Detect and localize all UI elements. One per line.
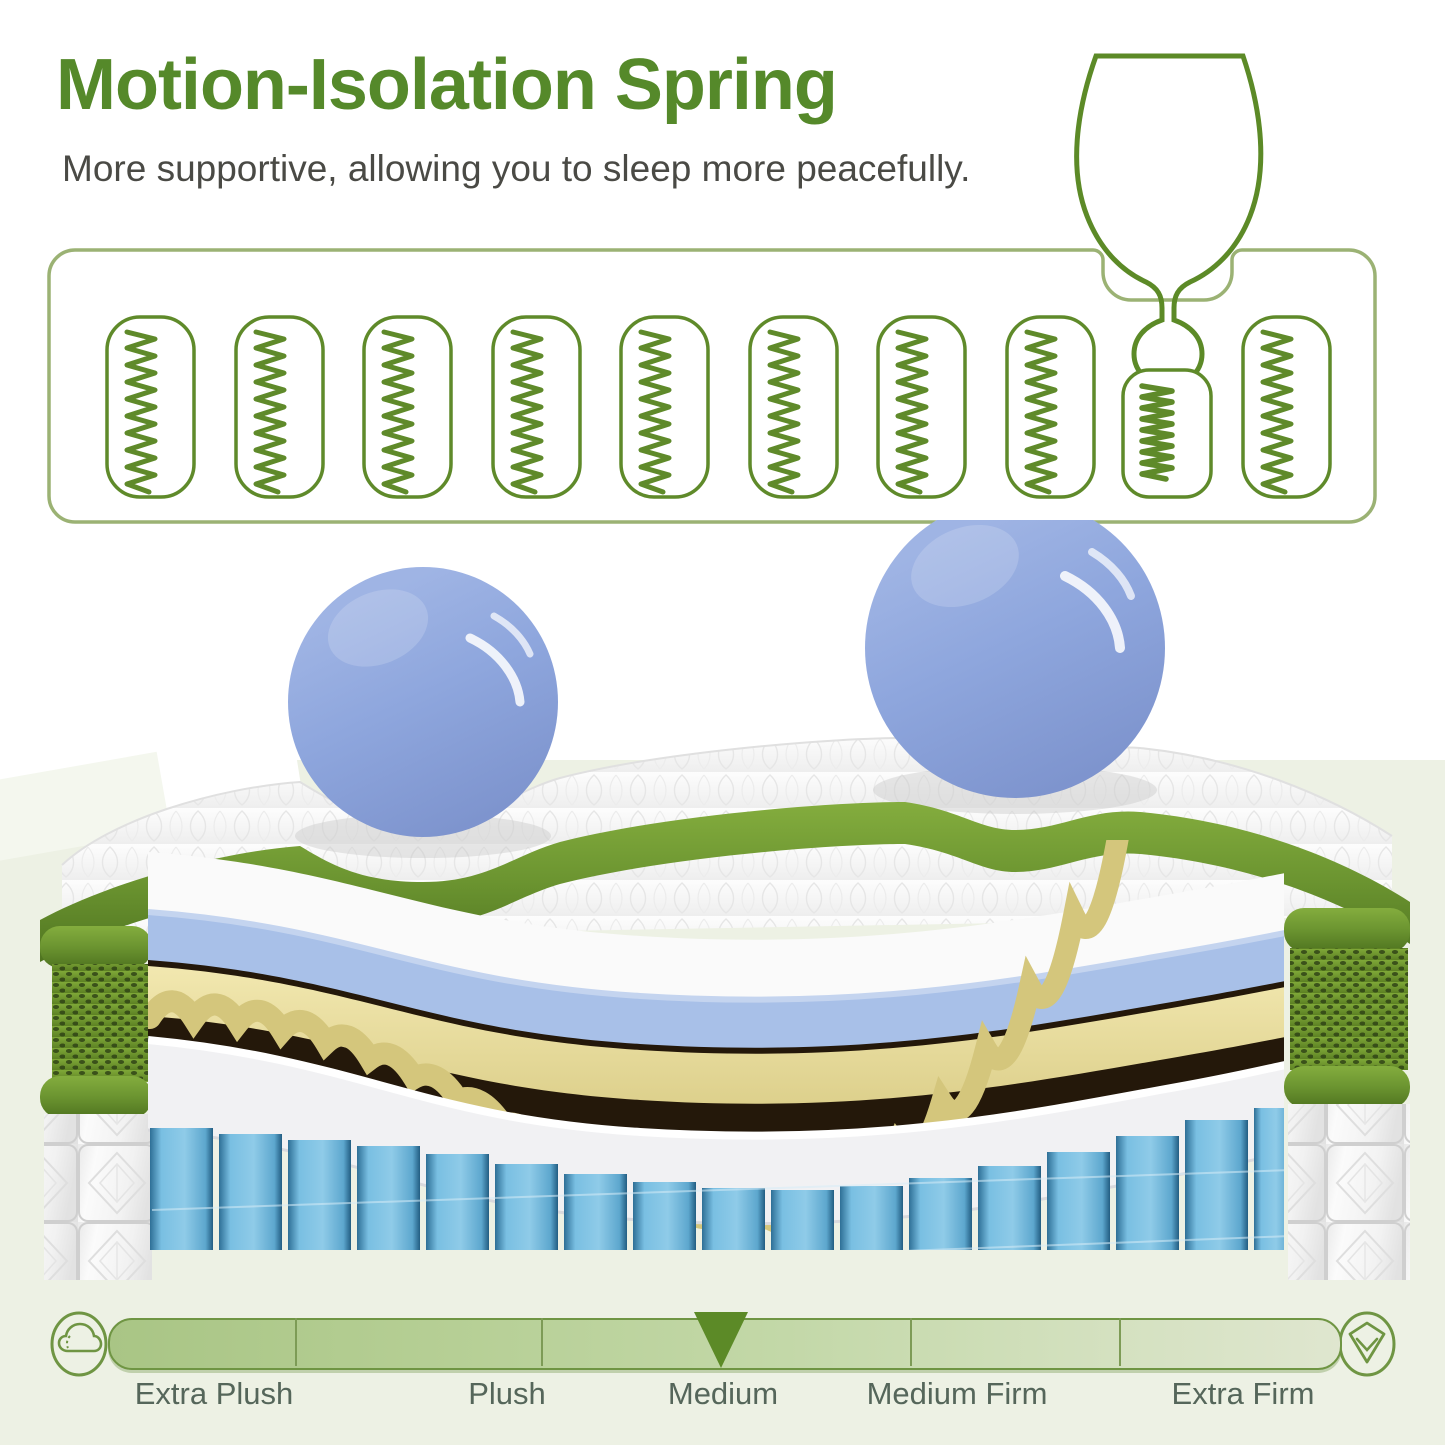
spring-pocket: [878, 317, 965, 497]
firmness-pointer: [694, 1312, 748, 1368]
scale-label-medium-firm: Medium Firm: [867, 1376, 1048, 1412]
spring-pocket-compressed: [1123, 370, 1211, 497]
diamond-icon: [1336, 1310, 1398, 1378]
scale-label-plush: Plush: [468, 1376, 546, 1412]
spring-pocket: [1007, 317, 1094, 497]
spring-pocket: [750, 317, 837, 497]
mattress-left-side: [40, 926, 152, 1280]
mattress-cross-section: [0, 520, 1445, 1280]
scale-label-extra-firm: Extra Firm: [1172, 1376, 1315, 1412]
scale-tick: [1119, 1318, 1121, 1366]
scale-label-medium: Medium: [668, 1376, 778, 1412]
spring-pocket: [107, 317, 194, 497]
scale-tick: [295, 1318, 297, 1366]
spring-pocket: [621, 317, 708, 497]
spring-pocket: [364, 317, 451, 497]
mattress-right-side: [1284, 908, 1410, 1280]
scale-label-extra-plush: Extra Plush: [135, 1376, 294, 1412]
cloud-icon: [48, 1310, 110, 1378]
scale-tick: [541, 1318, 543, 1366]
spring-pocket: [1243, 317, 1330, 497]
scale-tick: [910, 1318, 912, 1366]
firmness-scale[interactable]: Extra Plush Plush Medium Medium Firm Ext…: [0, 1290, 1445, 1420]
spring-panel: [0, 20, 1445, 540]
product-infographic: Motion-Isolation Spring More supportive,…: [0, 0, 1445, 1445]
spring-pocket: [236, 317, 323, 497]
spring-pocket: [493, 317, 580, 497]
